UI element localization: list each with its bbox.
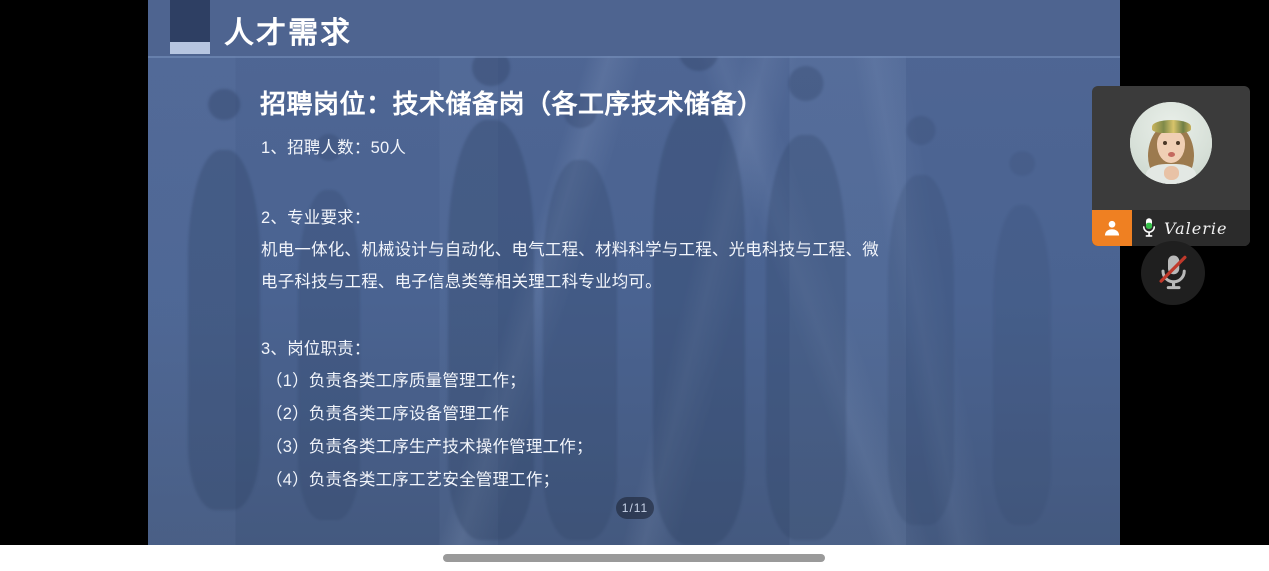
duty-item-1: （1）负责各类工序质量管理工作； xyxy=(266,367,526,391)
duty-item-3: （3）负责各类工序生产技术操作管理工作； xyxy=(266,433,593,457)
participant-tile[interactable]: Valerie xyxy=(1092,86,1250,246)
slide-title: 人才需求 xyxy=(224,8,352,52)
major-requirement-label: 2、专业要求： xyxy=(261,204,371,228)
bottom-bar xyxy=(0,545,1269,571)
person-icon xyxy=(1092,210,1132,246)
duty-item-2: （2）负责各类工序设备管理工作 xyxy=(266,400,509,424)
major-requirement-line-1: 机电一体化、机械设计与自动化、电气工程、材料科学与工程、光电科技与工程、微 xyxy=(261,236,879,260)
screen-share-viewer: 人才需求 招聘岗位：技术储备岗（各工序技术储备） 1、招聘人数：50人 2、专业… xyxy=(0,0,1269,571)
horizontal-scrollbar-thumb[interactable] xyxy=(443,554,825,562)
recruit-count-line: 1、招聘人数：50人 xyxy=(261,134,406,158)
duty-item-4: （4）负责各类工序工艺安全管理工作； xyxy=(266,466,559,490)
microphone-icon[interactable] xyxy=(1136,210,1162,246)
microphone-muted-button[interactable] xyxy=(1141,241,1205,305)
slide-body: 招聘岗位：技术储备岗（各工序技术储备） 1、招聘人数：50人 2、专业要求： 机… xyxy=(148,56,1120,545)
page-indicator: 1/11 xyxy=(616,497,654,519)
shared-slide[interactable]: 人才需求 招聘岗位：技术储备岗（各工序技术储备） 1、招聘人数：50人 2、专业… xyxy=(148,0,1120,545)
title-decoration-underbar xyxy=(170,42,210,54)
duty-label: 3、岗位职责： xyxy=(261,335,371,359)
horizontal-scrollbar[interactable] xyxy=(0,545,1269,571)
title-decoration-block xyxy=(170,0,210,42)
avatar xyxy=(1130,102,1212,184)
section-heading: 招聘岗位：技术储备岗（各工序技术储备） xyxy=(260,84,764,121)
slide-header-divider xyxy=(148,56,1120,58)
major-requirement-line-2: 电子科技与工程、电子信息类等相关理工科专业均可。 xyxy=(261,268,662,292)
participant-name: Valerie xyxy=(1164,219,1227,238)
